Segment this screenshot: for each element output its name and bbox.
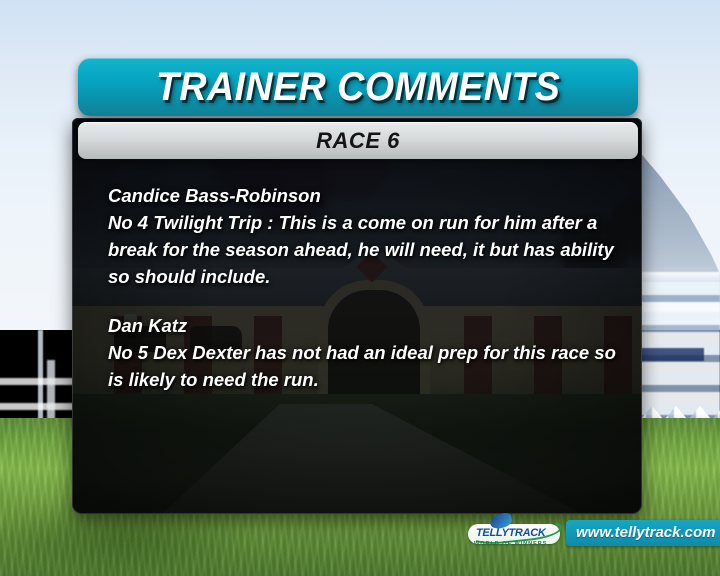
website-url: www.tellytrack.com: [576, 524, 716, 541]
website-url-pill[interactable]: www.tellytrack.com: [566, 520, 720, 546]
broadcast-graphic-screen: TRAINER COMMENTS RACE 6 Candice Bass-Rob…: [0, 0, 720, 576]
comment-entry: Candice Bass-Robinson No 4 Twilight Trip…: [108, 182, 630, 290]
page-title: TRAINER COMMENTS: [156, 65, 560, 110]
footer-branding: TELLYTRACK WORLD OF WINNERS www.tellytra…: [468, 516, 720, 550]
trainer-comment-text: No 4 Twilight Trip : This is a come on r…: [108, 209, 630, 290]
logo-tagline: WORLD OF WINNERS: [474, 541, 547, 547]
trainer-name: Candice Bass-Robinson: [108, 182, 630, 209]
title-bar: TRAINER COMMENTS: [78, 58, 638, 116]
comments-list: Candice Bass-Robinson No 4 Twilight Trip…: [108, 182, 630, 393]
logo-wordmark: TELLYTRACK: [476, 527, 546, 539]
comment-entry: Dan Katz No 5 Dex Dexter has not had an …: [108, 312, 630, 393]
trainer-name: Dan Katz: [108, 312, 630, 339]
trainer-comment-text: No 5 Dex Dexter has not had an ideal pre…: [108, 339, 630, 393]
tellytrack-logo: TELLYTRACK WORLD OF WINNERS: [468, 516, 560, 550]
race-label: RACE 6: [316, 128, 400, 154]
race-subtitle-bar: RACE 6: [78, 122, 638, 159]
